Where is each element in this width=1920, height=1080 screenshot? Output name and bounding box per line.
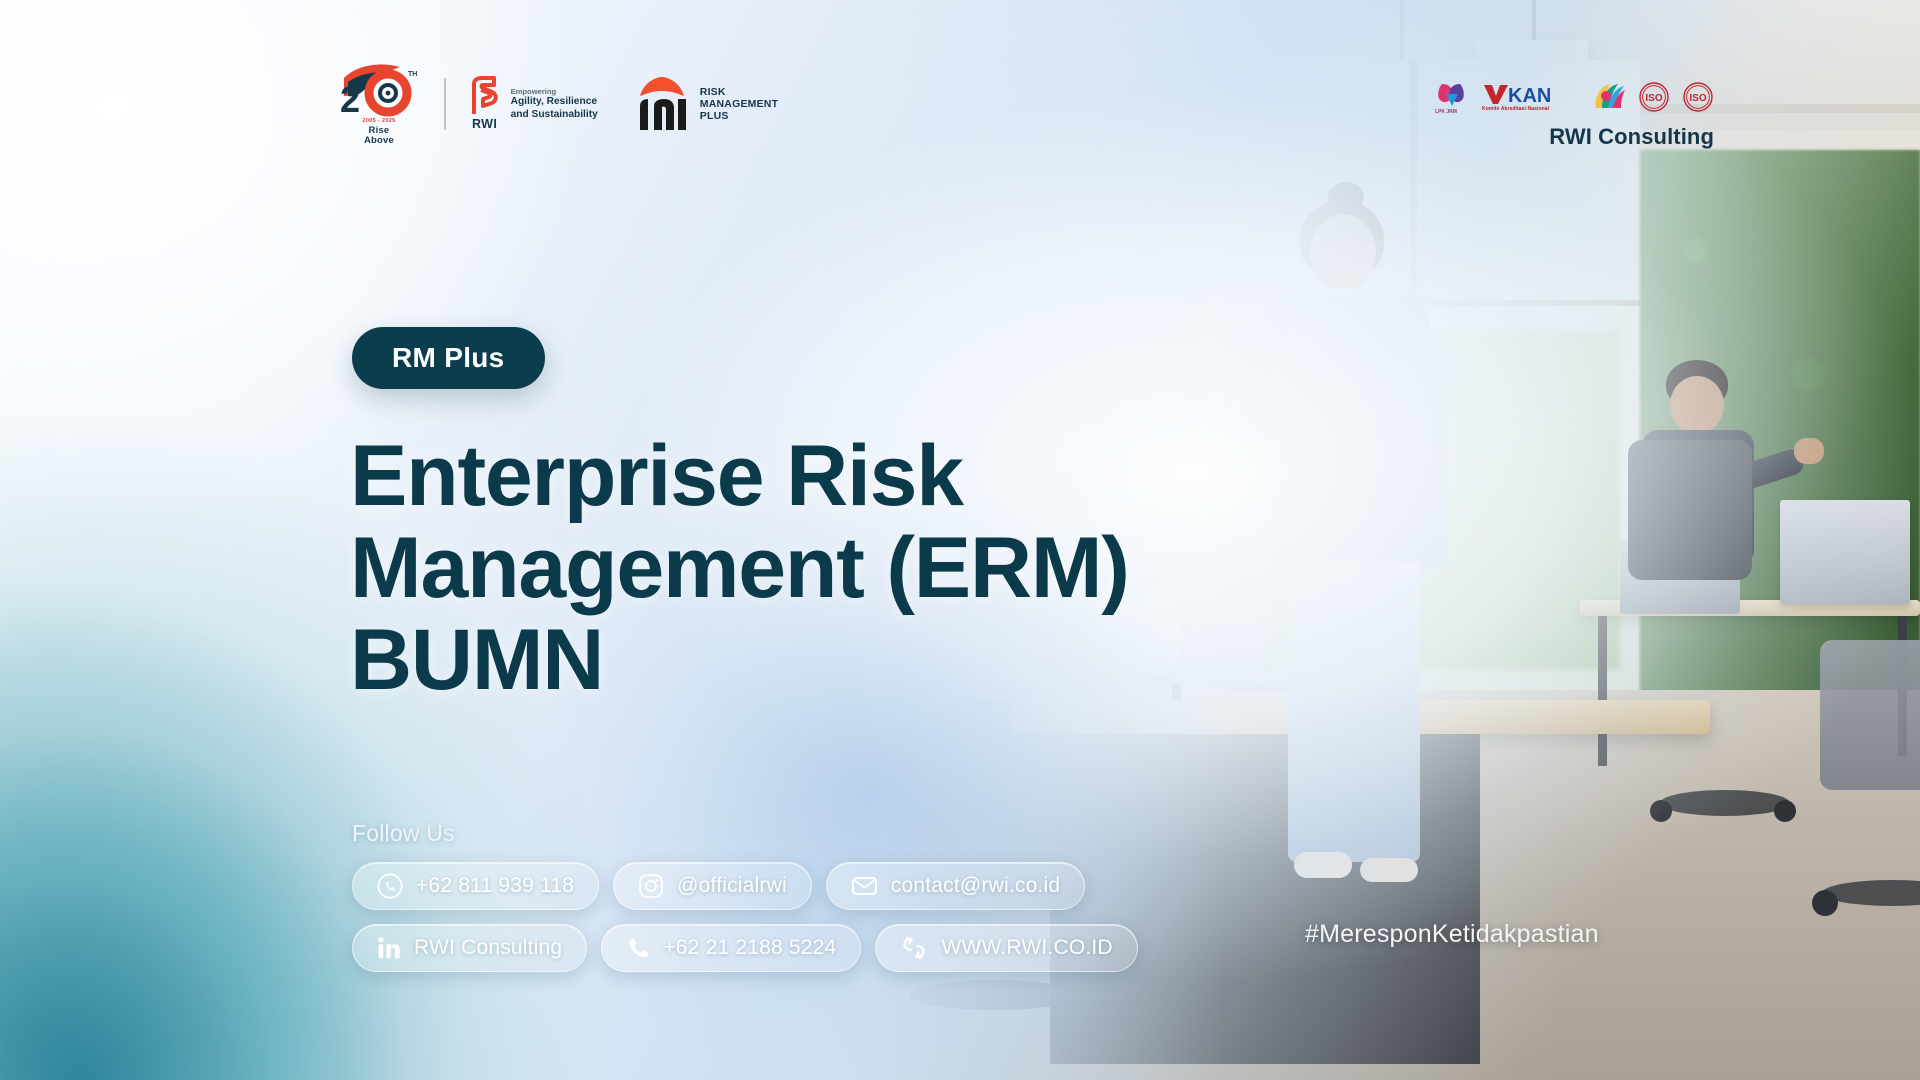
svg-text:TH: TH <box>408 71 417 78</box>
contact-pill-group: +62 811 939 118 @officialrwi <box>352 862 1138 972</box>
svg-text:ISO: ISO <box>1689 93 1706 104</box>
contact-pill-label: RWI Consulting <box>414 936 562 960</box>
svg-text:LPK JRM: LPK JRM <box>1435 109 1457 114</box>
rwi-monogram-icon: RWI <box>468 76 502 131</box>
contact-pill-label: +62 811 939 118 <box>416 874 574 898</box>
rm-plus-line3: PLUS <box>700 110 778 122</box>
svg-text:ISO: ISO <box>1645 93 1662 104</box>
lpk-jrm-badge: LPK JRM <box>1434 80 1470 114</box>
content-layer: 2 TH 2005 - 2025 Rise Above <box>0 0 1920 1080</box>
certification-badges: LPK JRM KAN Komite Akreditasi Nasional <box>1434 78 1714 116</box>
rwi-wordmark: RWI <box>472 117 497 131</box>
contact-pill-whatsapp[interactable]: +62 811 939 118 <box>352 862 599 910</box>
rwi-tagline-line2: Agility, Resilience <box>511 96 598 108</box>
rwi-tagline-line1: Empowering <box>511 87 598 96</box>
contact-pill-label: @officialrwi <box>677 874 787 898</box>
contact-pill-instagram[interactable]: @officialrwi <box>613 862 812 910</box>
iso-badge-1: ISO <box>1638 81 1670 113</box>
rm-plus-logo: RISK MANAGEMENT PLUS <box>634 76 778 132</box>
whatsapp-icon <box>377 873 403 899</box>
email-icon <box>851 873 878 899</box>
certification-cluster: LPK JRM KAN Komite Akreditasi Nasional <box>1434 78 1714 150</box>
contact-pill-label: WWW.RWI.CO.ID <box>941 936 1112 960</box>
instagram-icon <box>638 873 664 899</box>
rwi-logo: RWI Empowering Agility, Resilience and S… <box>468 76 598 131</box>
website-icon <box>900 935 928 961</box>
iso-badge-2: ISO <box>1682 81 1714 113</box>
rm-plus-line2: MANAGEMENT <box>700 98 778 110</box>
logo-bar: 2 TH 2005 - 2025 Rise Above <box>336 62 778 146</box>
anniversary-20-eagle-icon: 2 TH <box>338 62 420 118</box>
page-title: Enterprise Risk Management (ERM) BUMN <box>350 430 1360 706</box>
kan-subtitle: Komite Akreditasi Nasional <box>1482 106 1549 112</box>
contact-pill-row: +62 811 939 118 @officialrwi <box>352 862 1138 910</box>
contact-pill-row: RWI Consulting +62 21 2188 5224 <box>352 924 1138 972</box>
anniversary-years: 2005 - 2025 <box>362 118 395 124</box>
linkedin-icon <box>377 936 401 960</box>
rwi-tagline-line3: and Sustainability <box>511 109 598 121</box>
campaign-hashtag: #MeresponKetidakpastian <box>1305 920 1599 949</box>
colorful-accreditation-badge <box>1590 80 1626 114</box>
title-line-3: BUMN <box>350 614 1360 706</box>
contact-pill-website[interactable]: WWW.RWI.CO.ID <box>875 924 1137 972</box>
anniversary-logo: 2 TH 2005 - 2025 Rise Above <box>336 62 422 146</box>
contact-pill-email[interactable]: contact@rwi.co.id <box>826 862 1085 910</box>
follow-us-label: Follow Us <box>352 820 455 847</box>
brand-name-right: RWI Consulting <box>1434 124 1714 150</box>
rwi-tagline: Empowering Agility, Resilience and Susta… <box>511 87 598 121</box>
title-line-1: Enterprise Risk <box>350 430 1360 522</box>
eyebrow-label: RM Plus <box>392 342 505 374</box>
rm-plus-wordmark: RISK MANAGEMENT PLUS <box>700 86 778 123</box>
anniversary-caption-line2: Above <box>364 135 394 146</box>
contact-pill-label: +62 21 2188 5224 <box>663 936 836 960</box>
poster-canvas: 2 TH 2005 - 2025 Rise Above <box>0 0 1920 1080</box>
rm-plus-line1: RISK <box>700 86 778 98</box>
contact-pill-linkedin[interactable]: RWI Consulting <box>352 924 587 972</box>
title-line-2: Management (ERM) <box>350 522 1360 614</box>
contact-pill-phone[interactable]: +62 21 2188 5224 <box>601 924 861 972</box>
kan-badge: KAN Komite Akreditasi Nasional <box>1482 82 1578 112</box>
eyebrow-badge: RM Plus <box>352 327 545 389</box>
svg-text:KAN: KAN <box>1508 85 1551 106</box>
svg-text:2: 2 <box>340 79 360 118</box>
logo-divider <box>444 78 446 130</box>
rm-plus-monogram-icon <box>634 76 690 132</box>
phone-icon <box>626 936 650 960</box>
contact-pill-label: contact@rwi.co.id <box>891 874 1060 898</box>
anniversary-caption: Rise Above <box>364 126 394 146</box>
